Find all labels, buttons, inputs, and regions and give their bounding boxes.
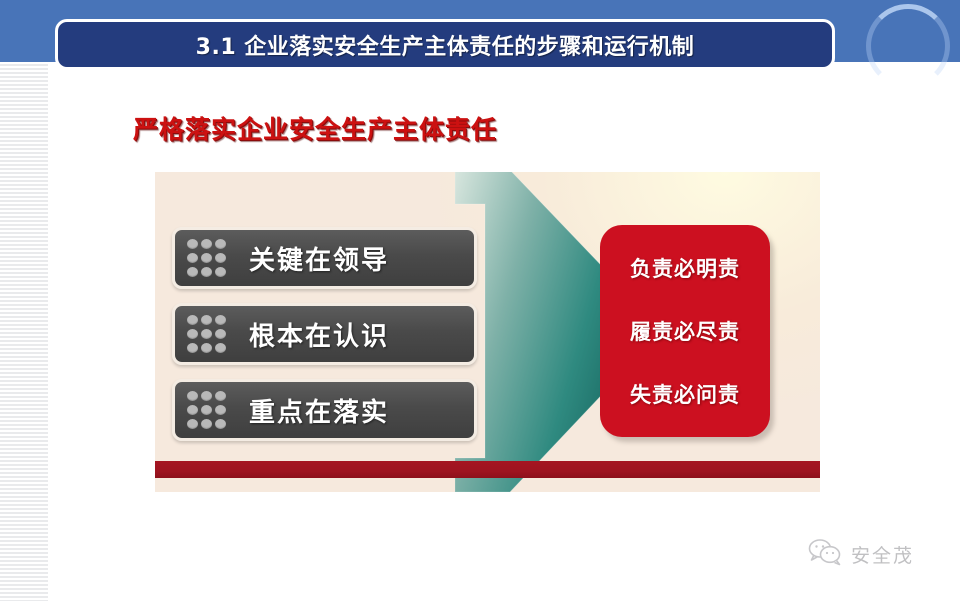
header-blue-corner-block	[0, 0, 48, 62]
step-box-1-label: 关键在领导	[249, 240, 389, 277]
outcome-line-2: 履责必尽责	[630, 316, 740, 346]
diagram-figure: 关键在领导 根本在认识 重点在落实 负责必明责 履责必尽责 失责必问责	[155, 172, 820, 492]
figure-bottom-red-bar	[155, 461, 820, 478]
step-box-2[interactable]: 根本在认识	[172, 303, 477, 365]
dot-grid-icon	[187, 315, 237, 354]
outcome-line-1: 负责必明责	[630, 253, 740, 283]
slide-subtitle: 严格落实企业安全生产主体责任	[133, 110, 497, 146]
step-box-3[interactable]: 重点在落实	[172, 379, 477, 441]
watermark-label: 安全茂	[851, 541, 914, 568]
step-box-1[interactable]: 关键在领导	[172, 227, 477, 289]
slide-title-bar: 3.1 企业落实安全生产主体责任的步骤和运行机制	[55, 19, 835, 70]
dot-grid-icon	[187, 391, 237, 430]
outcome-line-3: 失责必问责	[630, 379, 740, 409]
outcome-panel: 负责必明责 履责必尽责 失责必问责	[600, 225, 770, 437]
watermark: 安全茂	[808, 538, 914, 570]
wechat-bubbles-icon	[808, 538, 842, 570]
left-stripe-decoration	[0, 0, 48, 601]
step-box-list: 关键在领导 根本在认识 重点在落实	[172, 227, 477, 455]
slide-canvas: 3.1 企业落实安全生产主体责任的步骤和运行机制 严格落实企业安全生产主体责任	[0, 0, 960, 601]
dot-grid-icon	[187, 239, 237, 278]
step-box-2-label: 根本在认识	[249, 316, 389, 353]
page-title: 3.1 企业落实安全生产主体责任的步骤和运行机制	[196, 29, 695, 61]
step-box-3-label: 重点在落实	[249, 392, 389, 429]
